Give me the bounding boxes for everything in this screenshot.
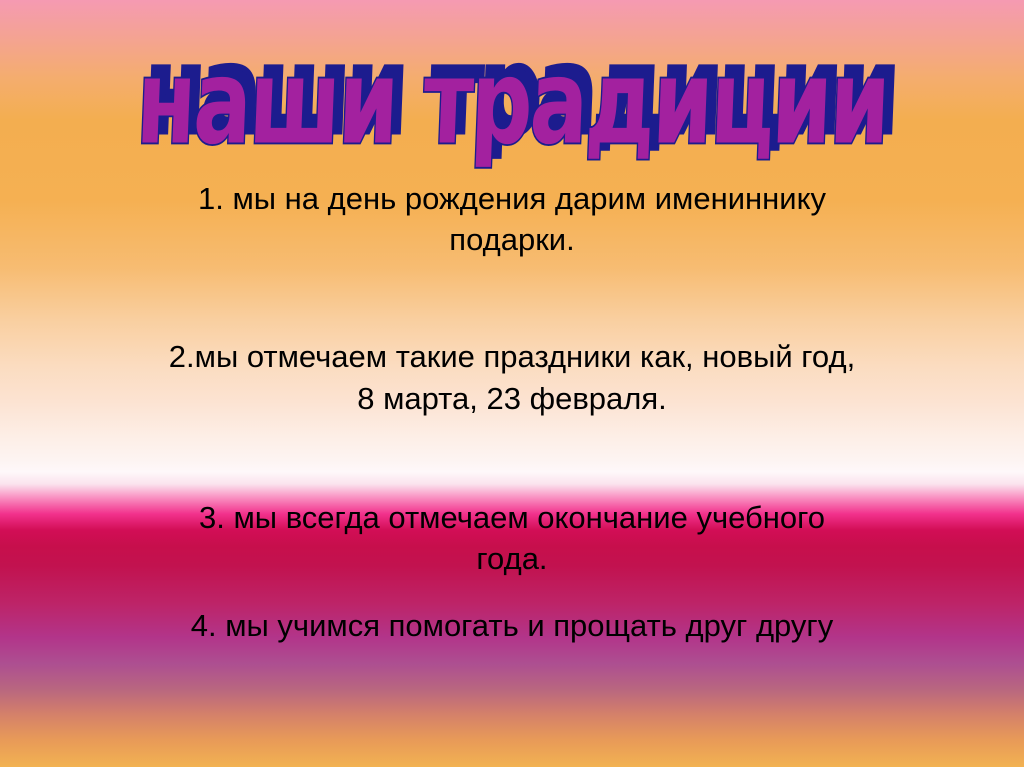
slide-body: 1. мы на день рождения дарим имениннику …	[48, 178, 976, 647]
wordart-text: наши традиции наши традиции	[134, 43, 889, 160]
presentation-slide: наши традиции наши традиции 1. мы на ден…	[0, 0, 1024, 767]
list-item-line: подарки.	[449, 222, 574, 257]
list-item: 2.мы отмечаем такие праздники как, новый…	[48, 336, 976, 418]
list-item-line: года.	[476, 541, 547, 576]
wordart-face-layer: наши традиции	[134, 34, 890, 171]
list-item-line: 8 марта, 23 февраля.	[357, 381, 667, 416]
list-item-line: 3. мы всегда отмечаем окончание учебного	[199, 500, 825, 535]
list-item-line: 2.мы отмечаем такие праздники как, новый…	[169, 339, 855, 374]
list-item: 3. мы всегда отмечаем окончание учебного…	[48, 497, 976, 579]
wordart-shadow-layer: наши традиции	[143, 32, 898, 149]
list-item: 1. мы на день рождения дарим имениннику …	[48, 178, 976, 260]
slide-title-wordart: наши традиции наши традиции	[0, 36, 1024, 168]
list-item-line: 1. мы на день рождения дарим имениннику	[198, 181, 826, 216]
list-item: 4. мы учимся помогать и прощать друг дру…	[48, 605, 976, 646]
list-item-line: 4. мы учимся помогать и прощать друг дру…	[191, 608, 834, 643]
